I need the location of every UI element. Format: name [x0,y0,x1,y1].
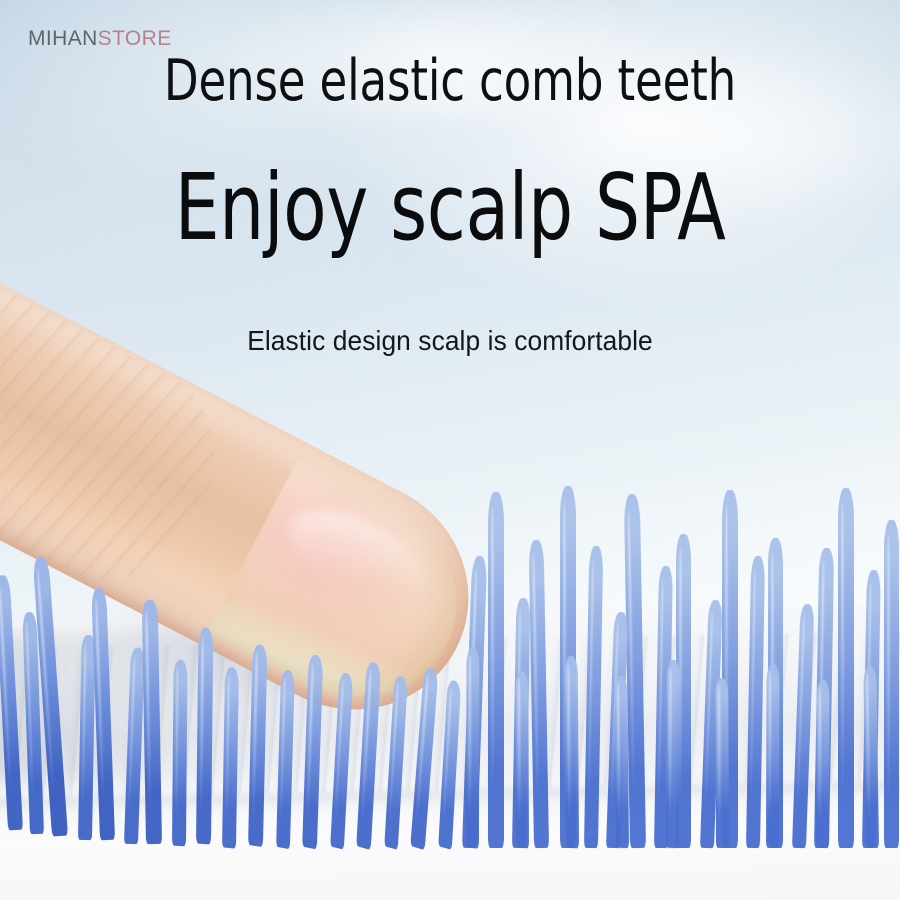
product-banner: MIHANSTORE Dense elastic comb teeth Enjo… [0,0,900,900]
comb-bristle [666,660,680,849]
comb-bristle [838,488,854,848]
comb-bristle [884,520,899,848]
headline-line-2: Enjoy scalp SPA [63,160,837,256]
comb-bristle [816,680,829,848]
comb-bristle [466,646,479,848]
comb-bristle [792,604,815,848]
headline-subtitle: Elastic design scalp is comfortable [27,325,873,357]
headline-line-1: Dense elastic comb teeth [54,52,846,110]
comb-bristle [766,664,780,848]
comb-bristle [863,666,879,848]
brand-logo: MIHANSTORE [28,27,172,51]
comb-bristle [515,671,529,848]
brand-name-primary: MIHAN [28,27,98,50]
brand-name-secondary: STORE [98,27,172,50]
comb-bristle [488,492,504,848]
comb-bristle [715,678,729,848]
comb-bristle [614,676,629,849]
comb-bristle [172,659,188,846]
comb-bristle [565,655,579,848]
comb-bristle [529,540,549,848]
comb-bristle [584,546,603,848]
comb-bristle [196,627,213,844]
comb-bristle [746,556,765,848]
